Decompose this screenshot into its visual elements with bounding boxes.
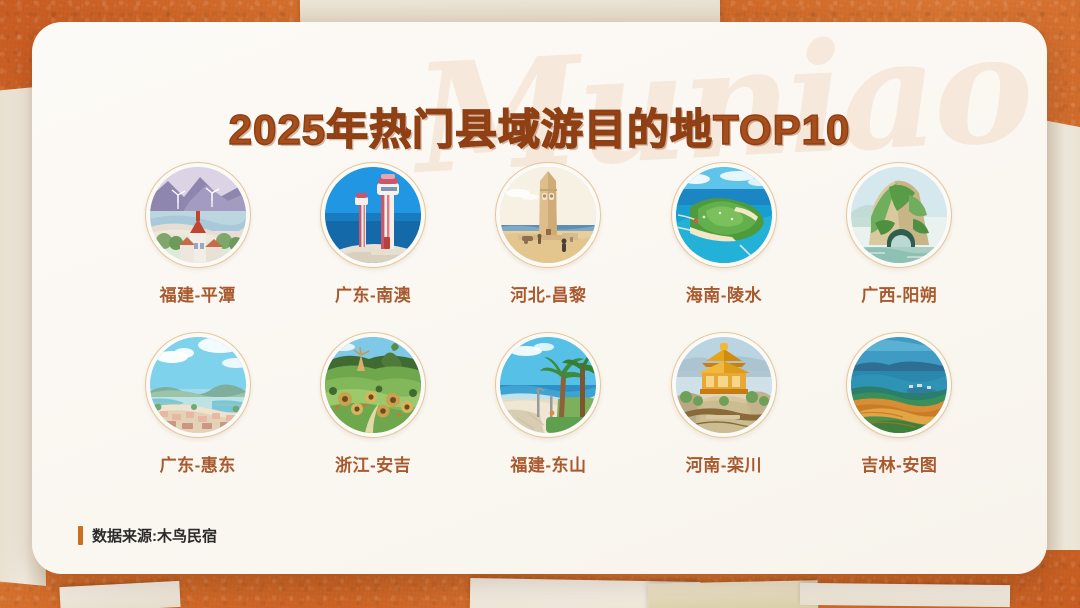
destination-label: 海南-陵水 — [686, 281, 762, 306]
destination-label: 广西-阳朔 — [861, 281, 937, 306]
thumbnail-ring — [846, 332, 952, 438]
thumbnail-ring — [320, 332, 426, 438]
data-source: 数据来源:木鸟民宿 — [78, 525, 217, 546]
destination-label: 广东-南澳 — [335, 281, 411, 306]
destination-thumbnail-nanao — [325, 167, 421, 263]
source-text: 数据来源:木鸟民宿 — [92, 525, 217, 546]
destination-grid: 福建-平潭 — [110, 162, 987, 476]
destination-thumbnail-antu — [851, 337, 947, 433]
photo-scrap-right — [800, 583, 1010, 607]
destination-item-1[interactable]: 福建-平潭 — [112, 162, 284, 306]
destination-label: 福建-东山 — [510, 451, 586, 476]
paper-layer-right — [1042, 120, 1080, 550]
destination-item-7[interactable]: 浙江-安吉 — [287, 332, 459, 476]
destination-item-2[interactable]: 广东-南澳 — [287, 162, 459, 306]
thumbnail-ring — [495, 332, 601, 438]
thumbnail-ring — [145, 332, 251, 438]
destination-thumbnail-pingtan — [150, 167, 246, 263]
destination-item-9[interactable]: 河南-栾川 — [638, 332, 810, 476]
destination-label: 广东-惠东 — [160, 451, 236, 476]
destination-item-6[interactable]: 广东-惠东 — [112, 332, 284, 476]
destination-label: 河南-栾川 — [686, 451, 762, 476]
destination-label: 福建-平潭 — [160, 281, 236, 306]
thumbnail-ring — [495, 162, 601, 268]
destination-item-3[interactable]: 河北-昌黎 — [462, 162, 634, 306]
photo-scrap-center-right — [648, 580, 819, 608]
thumbnail-ring — [320, 162, 426, 268]
thumbnail-ring — [671, 332, 777, 438]
thumbnail-ring — [846, 162, 952, 268]
destination-thumbnail-dongshan — [500, 337, 596, 433]
destination-thumbnail-anji — [325, 337, 421, 433]
destination-thumbnail-huidong — [150, 337, 246, 433]
thumbnail-ring — [145, 162, 251, 268]
destination-label: 河北-昌黎 — [510, 281, 586, 306]
thumbnail-ring — [671, 162, 777, 268]
destination-item-10[interactable]: 吉林-安图 — [813, 332, 985, 476]
destination-label: 浙江-安吉 — [335, 451, 411, 476]
source-accent-bar — [78, 526, 83, 545]
destination-thumbnail-lingshui — [676, 167, 772, 263]
infographic-card: Muniao 2025年热门县域游目的地TOP10 — [32, 22, 1047, 574]
destination-thumbnail-changli — [500, 167, 596, 263]
destination-thumbnail-luanchuan — [676, 337, 772, 433]
page-title: 2025年热门县域游目的地TOP10 — [32, 96, 1047, 157]
destination-label: 吉林-安图 — [861, 451, 937, 476]
destination-item-8[interactable]: 福建-东山 — [462, 332, 634, 476]
destination-item-4[interactable]: 海南-陵水 — [638, 162, 810, 306]
destination-thumbnail-yangshuo — [851, 167, 947, 263]
destination-item-5[interactable]: 广西-阳朔 — [813, 162, 985, 306]
